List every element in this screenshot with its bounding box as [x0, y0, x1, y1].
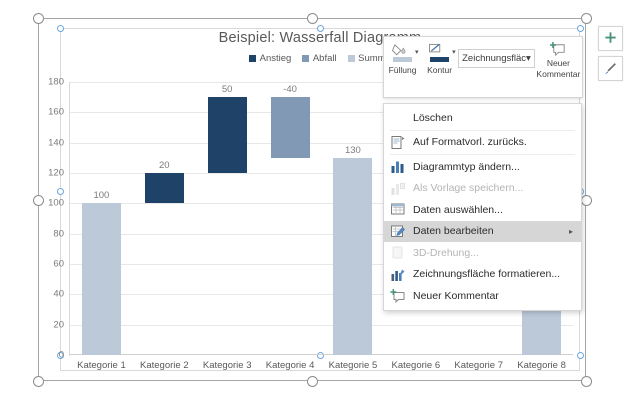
legend-swatch-icon — [249, 55, 256, 62]
y-tick-180: 180 — [30, 77, 64, 88]
x-label-kategorie-4: Kategorie 4 — [259, 360, 322, 376]
chart-styles-button[interactable] — [598, 56, 623, 81]
y-axis-tick-labels[interactable]: 180160140120100806040200 — [30, 82, 64, 355]
chart-context-menu[interactable]: LöschenAuf Formatvorl. zurücks.Diagrammt… — [383, 103, 582, 311]
new-comment-label-line1: Neuer — [547, 58, 570, 69]
legend-swatch-icon — [348, 55, 355, 62]
legend-item-anstieg[interactable]: Anstieg — [249, 53, 291, 64]
x-label-kategorie-6: Kategorie 6 — [384, 360, 447, 376]
data-label-kategorie-5: 130 — [325, 145, 380, 156]
resize-handle-middle-right[interactable] — [581, 195, 592, 206]
x-label-kategorie-5: Kategorie 5 — [322, 360, 385, 376]
new-comment-icon — [549, 41, 568, 58]
y-tick-100: 100 — [30, 198, 64, 209]
context-menu-item-daten-bearbeiten[interactable]: Daten bearbeiten▸ — [384, 221, 581, 243]
chart-element-select-caret[interactable]: ▾ — [526, 53, 531, 64]
y-tick-20: 20 — [30, 319, 64, 330]
bar-kategorie-1[interactable] — [82, 203, 121, 355]
resize-handle-bottom-center[interactable] — [307, 376, 318, 387]
context-menu-item-als-vorlage-speichern: Als Vorlage speichern... — [384, 178, 581, 200]
context-menu-item-label: Daten bearbeiten — [413, 225, 494, 237]
new-comment-icon — [390, 288, 406, 303]
resize-handle-bottom-right[interactable] — [581, 376, 592, 387]
context-menu-item-label: Als Vorlage speichern... — [413, 182, 523, 194]
context-menu-item-label: 3D-Drehung... — [413, 247, 479, 259]
submenu-arrow-icon[interactable]: ▸ — [569, 227, 573, 236]
fill-color-swatch — [393, 57, 412, 62]
data-label-kategorie-3: 50 — [200, 84, 255, 95]
outline-button[interactable]: ▾ Kontur — [421, 37, 458, 97]
legend-item-abfall[interactable]: Abfall — [302, 53, 336, 64]
context-menu-item-zeichnungsfläche-formatieren[interactable]: Zeichnungsfläche formatieren... — [384, 264, 581, 286]
data-label-kategorie-2: 20 — [137, 160, 192, 171]
edit-data-icon — [390, 224, 406, 239]
outline-label: Kontur — [427, 65, 452, 75]
legend-swatch-icon — [302, 55, 309, 62]
context-menu-item-daten-auswählen[interactable]: Daten auswählen... — [384, 199, 581, 221]
context-menu-item-label: Auf Formatvorl. zurücks. — [413, 136, 527, 148]
x-label-kategorie-2: Kategorie 2 — [133, 360, 196, 376]
context-menu-item-label: Diagrammtyp ändern... — [413, 161, 520, 173]
fill-label: Füllung — [389, 65, 417, 75]
bar-kategorie-4[interactable] — [271, 97, 310, 158]
chart-element-select-value: Zeichnungsfläc — [462, 53, 526, 64]
bar-kategorie-3[interactable] — [208, 97, 247, 173]
gridline — [70, 325, 573, 326]
context-menu-item-auf-formatvorl-zurücks[interactable]: Auf Formatvorl. zurücks. — [384, 132, 581, 154]
y-tick-0: 0 — [30, 350, 64, 361]
x-label-kategorie-8: Kategorie 8 — [510, 360, 573, 376]
y-tick-120: 120 — [30, 168, 64, 179]
fill-button[interactable]: ▾ Füllung — [384, 37, 421, 97]
paintbrush-icon — [603, 61, 618, 76]
format-plot-area-icon — [390, 267, 406, 282]
x-label-kategorie-1: Kategorie 1 — [70, 360, 133, 376]
chart-element-select[interactable]: Zeichnungsfläc ▾ — [458, 49, 535, 68]
legend-label: Abfall — [313, 53, 337, 64]
y-tick-140: 140 — [30, 137, 64, 148]
context-menu-item-label: Zeichnungsfläche formatieren... — [413, 268, 560, 280]
context-menu-item-löschen[interactable]: Löschen — [384, 107, 581, 129]
select-data-icon — [390, 202, 406, 217]
no-icon — [390, 110, 406, 125]
outline-color-swatch — [430, 57, 449, 62]
y-tick-60: 60 — [30, 259, 64, 270]
data-label-kategorie-1: 100 — [74, 190, 129, 201]
rotate-3d-icon — [390, 245, 406, 260]
resize-handle-top-left[interactable] — [33, 13, 44, 24]
x-axis-line — [70, 354, 573, 356]
plus-icon — [603, 31, 618, 46]
context-menu-item-label: Neuer Kommentar — [413, 290, 499, 302]
resize-handle-top-center[interactable] — [307, 13, 318, 24]
pen-outline-icon: ▾ — [428, 43, 452, 63]
new-comment-label-line2: Kommentar — [536, 69, 580, 80]
bar-kategorie-2[interactable] — [145, 173, 184, 203]
chart-handle-bottom-right[interactable] — [577, 352, 584, 359]
mini-format-toolbar[interactable]: ▾ Füllung ▾ Kontur Zeichnungsfläc ▾ Neue… — [383, 36, 583, 98]
fill-dropdown-caret[interactable]: ▾ — [415, 48, 419, 56]
bar-kategorie-8[interactable] — [522, 310, 561, 356]
context-menu-item-diagrammtyp-ändern[interactable]: Diagrammtyp ändern... — [384, 156, 581, 178]
chart-elements-button[interactable] — [598, 26, 623, 51]
context-menu-separator — [390, 130, 575, 131]
y-tick-80: 80 — [30, 228, 64, 239]
context-menu-item-3d-drehung: 3D-Drehung... — [384, 242, 581, 264]
y-tick-160: 160 — [30, 107, 64, 118]
chart-type-icon — [390, 159, 406, 174]
resize-handle-bottom-left[interactable] — [33, 376, 44, 387]
legend-label: Anstieg — [260, 53, 292, 64]
context-menu-item-label: Daten auswählen... — [413, 204, 503, 216]
context-menu-item-label: Löschen — [413, 112, 453, 124]
x-label-kategorie-7: Kategorie 7 — [447, 360, 510, 376]
context-menu-separator — [390, 154, 575, 155]
x-label-kategorie-3: Kategorie 3 — [196, 360, 259, 376]
outline-dropdown-caret[interactable]: ▾ — [452, 48, 456, 56]
reset-format-icon — [390, 135, 406, 150]
paint-bucket-icon: ▾ — [391, 43, 415, 63]
save-template-icon — [390, 181, 406, 196]
new-comment-button[interactable]: Neuer Kommentar — [535, 37, 582, 97]
context-menu-item-neuer-kommentar[interactable]: Neuer Kommentar — [384, 285, 581, 307]
resize-handle-top-right[interactable] — [581, 13, 592, 24]
y-tick-40: 40 — [30, 289, 64, 300]
data-label-kategorie-4: -40 — [263, 84, 318, 95]
x-axis-category-labels[interactable]: Kategorie 1Kategorie 2Kategorie 3Kategor… — [70, 360, 573, 376]
bar-kategorie-5[interactable] — [333, 158, 372, 355]
